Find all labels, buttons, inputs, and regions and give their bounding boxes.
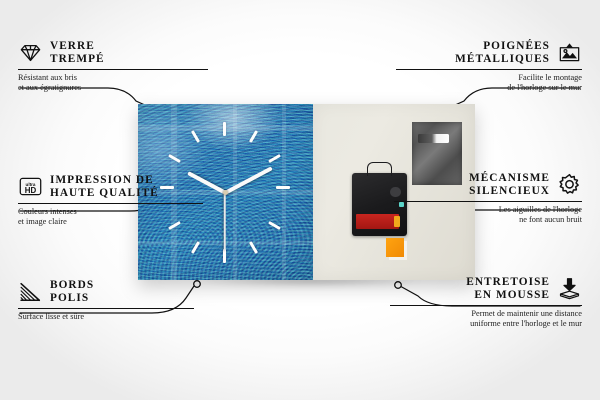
foam-spacer (386, 238, 404, 257)
feature-description: Les aiguilles de l'horloge ne font aucun… (382, 205, 582, 225)
feature-divider (394, 201, 582, 202)
arrow-down-onto-pad-icon (557, 276, 582, 301)
diamond-icon (18, 40, 43, 65)
feature-description: Permet de maintenir une distance uniform… (382, 309, 582, 329)
feature-title-line: IMPRESSION DE (50, 174, 159, 187)
feature-title-line: SILENCIEUX (469, 185, 550, 198)
feature-title-line: POLIS (50, 292, 94, 305)
feature-verre-trempe: VERRE TREMPÉ Résistant aux bris et aux é… (18, 40, 218, 93)
feature-title-line: POIGNÉES (455, 40, 550, 53)
feature-description: Surface lisse et sûre (18, 312, 218, 322)
feature-title-line: ENTRETOISE (466, 276, 550, 289)
feature-title-line: VERRE (50, 40, 105, 53)
feature-bords-polis: BORDS POLIS Surface lisse et sûre (18, 279, 218, 322)
feature-title-line: BORDS (50, 279, 94, 292)
feature-impression-haute-qualite: ultra HD IMPRESSION DE HAUTE QUALITÉ Cou… (18, 174, 218, 227)
feature-description: Résistant aux bris et aux égratignures (18, 73, 218, 93)
feature-title: IMPRESSION DE HAUTE QUALITÉ (50, 174, 159, 200)
hour-tick (276, 186, 290, 189)
feature-title-line: HAUTE QUALITÉ (50, 187, 159, 200)
feature-divider (390, 305, 582, 306)
ultra-hd-icon: ultra HD (18, 174, 43, 199)
hand-centre-cap (223, 190, 228, 195)
feature-title: VERRE TREMPÉ (50, 40, 105, 66)
feature-title-line: TREMPÉ (50, 53, 105, 66)
feature-title-line: MÉTALLIQUES (455, 53, 550, 66)
gear-icon (557, 172, 582, 197)
hanger-slot (418, 134, 449, 142)
svg-text:HD: HD (25, 186, 37, 195)
picture-frame-hanging-icon (557, 40, 582, 65)
feature-divider (18, 203, 203, 204)
feature-title: MÉCANISME SILENCIEUX (469, 172, 550, 198)
feature-mecanisme-silencieux: MÉCANISME SILENCIEUX Les aiguilles de l'… (382, 172, 582, 225)
feature-description: Facilite le montage de l'horloge sur le … (382, 73, 582, 93)
second-hand (224, 193, 226, 251)
hour-tick (223, 122, 226, 136)
feature-divider (396, 69, 582, 70)
feature-divider (18, 69, 208, 70)
feature-title: ENTRETOISE EN MOUSSE (466, 276, 550, 302)
polished-edge-icon (18, 279, 43, 304)
hour-tick (223, 249, 226, 263)
feature-poignees-metalliques: POIGNÉES MÉTALLIQUES Facilite le montage… (382, 40, 582, 93)
infographic-canvas: VERRE TREMPÉ Résistant aux bris et aux é… (0, 0, 600, 400)
feature-divider (18, 308, 194, 309)
feature-title-line: MÉCANISME (469, 172, 550, 185)
feature-entretoise-en-mousse: ENTRETOISE EN MOUSSE Permet de maintenir… (382, 276, 582, 329)
feature-title: BORDS POLIS (50, 279, 94, 305)
feature-title: POIGNÉES MÉTALLIQUES (455, 40, 550, 66)
feature-description: Couleurs intenses et image claire (18, 207, 218, 227)
feature-title-line: EN MOUSSE (466, 289, 550, 302)
